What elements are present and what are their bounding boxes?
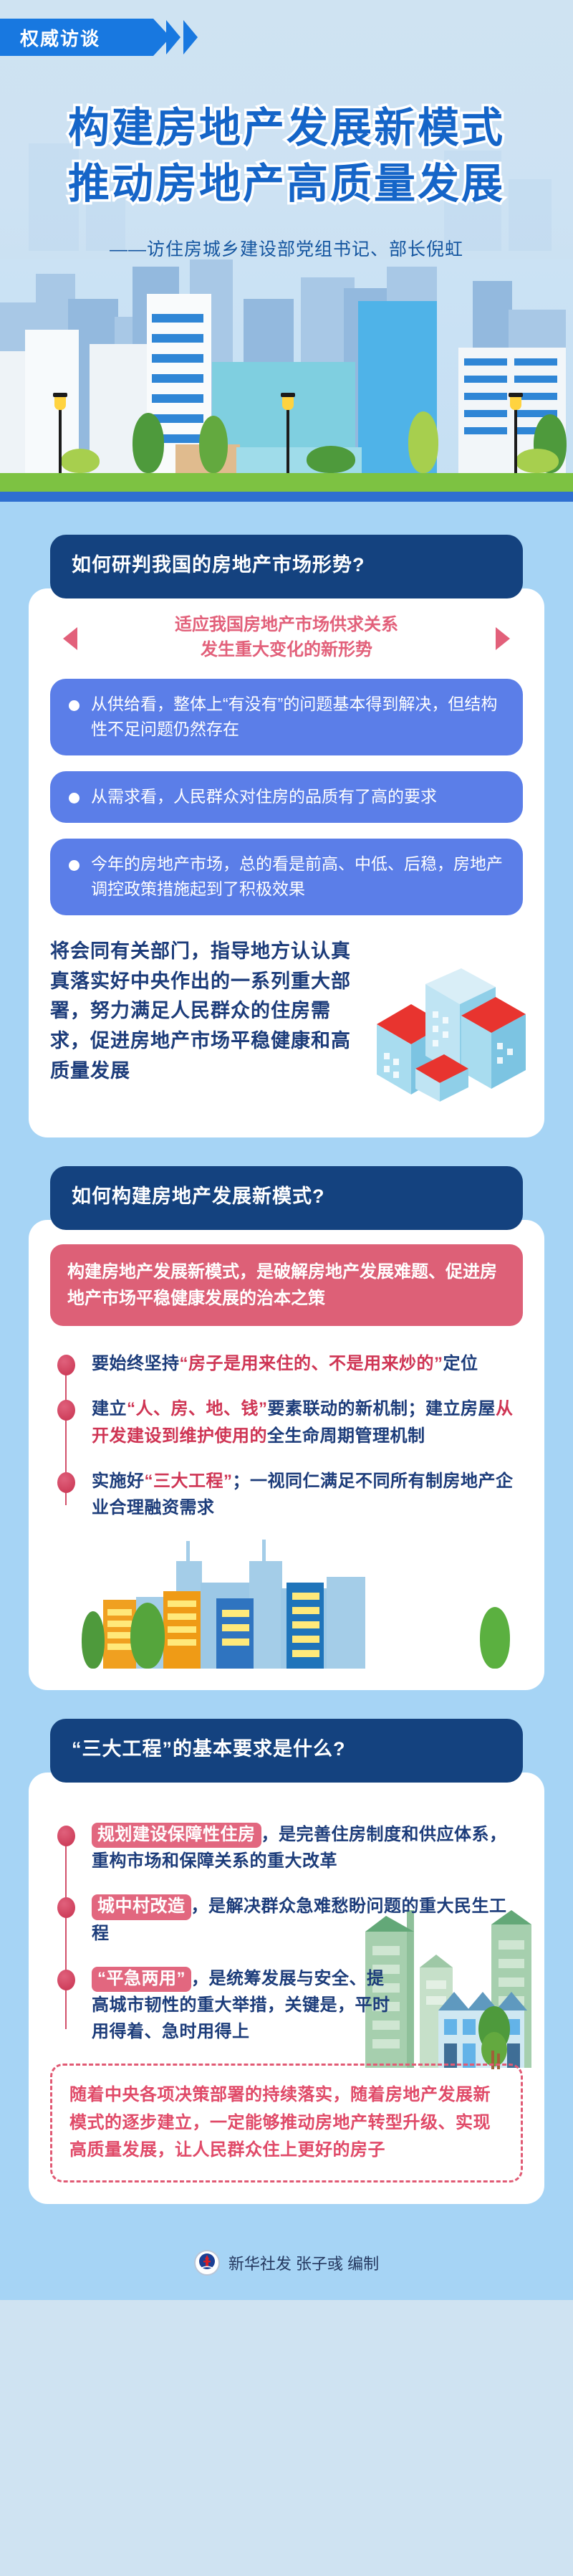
bullet-box: 从需求看，人民群众对住房的品质有了高的要求 bbox=[50, 771, 523, 823]
bullet-text: 今年的房地产市场，总的看是前高、中低、后稳，房地产调控政策措施起到了积极效果 bbox=[91, 851, 506, 902]
window-stripe bbox=[152, 394, 203, 403]
ribbon-label: 权威访谈 bbox=[20, 24, 100, 51]
window-stripe bbox=[292, 1607, 319, 1614]
keyword-chip: “平急两用” bbox=[92, 1967, 191, 1992]
section-new-model: 如何构建房地产发展新模式? 构建房地产发展新模式，是破解房地产发展难题、促进房地… bbox=[0, 1166, 573, 1719]
bush bbox=[307, 446, 355, 473]
timeline-item-text: 要始终坚持“房子是用来住的、不是用来炒的”定位 bbox=[92, 1350, 523, 1377]
window-stripe bbox=[168, 1613, 196, 1620]
bullet-dot-icon bbox=[69, 700, 80, 711]
banner-line-2: 发生重大变化的新形势 bbox=[90, 638, 483, 663]
timeline-highlight: “房子是用来住的、不是用来炒的” bbox=[180, 1354, 443, 1373]
timeline-item: 建立“人、房、地、钱”要素联动的新机制；建立房屋从开发建设到维护使用的全生命周期… bbox=[92, 1396, 523, 1449]
window-stripe bbox=[222, 1638, 249, 1646]
bullet-dot-icon bbox=[69, 793, 80, 803]
timeline-post-2: 全生命周期管理机制 bbox=[267, 1426, 425, 1446]
timeline-post: 定位 bbox=[443, 1354, 478, 1373]
timeline-item: 要始终坚持“房子是用来住的、不是用来炒的”定位 bbox=[92, 1350, 523, 1377]
section-three-projects: “三大工程”的基本要求是什么? 规划建设保障性住房，是完善住房制度和供应体系，重… bbox=[0, 1719, 573, 2225]
antenna bbox=[262, 1540, 266, 1669]
section-1-heading: 如何研判我国的房地产市场形势? bbox=[50, 535, 523, 598]
footer-credit-text: 新华社发 张子彧 编制 bbox=[228, 2251, 379, 2274]
timeline-dot-icon bbox=[57, 1400, 75, 1421]
timeline-highlight: “人、房、地、钱” bbox=[127, 1399, 268, 1418]
tree bbox=[133, 413, 164, 473]
timeline-dot-icon bbox=[57, 1472, 75, 1493]
window-stripe bbox=[514, 358, 557, 366]
tree bbox=[408, 411, 438, 473]
city-illustration bbox=[0, 259, 573, 502]
window-stripe bbox=[152, 334, 203, 343]
keyword-chip: 城中村改造 bbox=[92, 1894, 191, 1919]
section-1-card: 适应我国房地产市场供求关系 发生重大变化的新形势 从供给看，整体上“有没有”的问… bbox=[29, 588, 544, 1137]
timeline-pre: 建立 bbox=[92, 1399, 127, 1418]
window-stripe bbox=[464, 427, 507, 434]
section-3-heading: “三大工程”的基本要求是什么? bbox=[50, 1719, 523, 1783]
window-stripe bbox=[222, 1624, 249, 1631]
section-2-card: 构建房地产发展新模式，是破解房地产发展难题、促进房地产市场平稳健康发展的治本之策… bbox=[29, 1220, 544, 1690]
street-lamp bbox=[286, 401, 289, 473]
timeline-item: 实施好“三大工程”；一视同仁满足不同所有制房地产企业合理融资需求 bbox=[92, 1468, 523, 1521]
tree bbox=[82, 1611, 105, 1669]
window-stripe bbox=[292, 1650, 319, 1657]
section-market-situation: 如何研判我国的房地产市场形势? 适应我国房地产市场供求关系 发生重大变化的新形势… bbox=[0, 535, 573, 1166]
timeline-item-text: 城中村改造，是解决群众急难愁盼问题的重大民生工程 bbox=[92, 1893, 523, 1946]
timeline-item: 城中村改造，是解决群众急难愁盼问题的重大民生工程 bbox=[92, 1893, 523, 1946]
window-stripe bbox=[107, 1621, 132, 1627]
timeline-item: 规划建设保障性住房，是完善住房制度和供应体系，重构市场和保障关系的重大改革 bbox=[92, 1821, 523, 1874]
section-1-heading-text: 如何研判我国的房地产市场形势? bbox=[72, 549, 501, 577]
bullet-box: 今年的房地产市场，总的看是前高、中低、后稳，房地产调控政策措施起到了积极效果 bbox=[50, 839, 523, 915]
lamp-light-icon bbox=[54, 396, 66, 410]
timeline-item-text: 规划建设保障性住房，是完善住房制度和供应体系，重构市场和保障关系的重大改革 bbox=[92, 1821, 523, 1874]
grass-strip bbox=[0, 473, 573, 492]
window-stripe bbox=[107, 1609, 132, 1616]
lamp-cap bbox=[281, 393, 295, 397]
chevron-right-icon bbox=[183, 20, 198, 54]
lamp-cap bbox=[509, 393, 523, 397]
window-stripe bbox=[464, 393, 507, 400]
triangle-right-icon bbox=[496, 627, 510, 650]
xinhua-emblem bbox=[199, 2253, 215, 2270]
chevron-right-icon bbox=[166, 20, 180, 54]
window-stripe bbox=[152, 314, 203, 323]
section-2-highlight-box: 构建房地产发展新模式，是破解房地产发展难题、促进房地产市场平稳健康发展的治本之策 bbox=[50, 1244, 523, 1326]
section-3-timeline: 规划建设保障性住房，是完善住房制度和供应体系，重构市场和保障关系的重大改革 城中… bbox=[50, 1821, 523, 2045]
bush bbox=[516, 449, 559, 473]
timeline-item-text: “平急两用”，是统筹发展与安全、提高城市韧性的重大举措，关键是，平时用得着、急时… bbox=[92, 1965, 400, 2046]
section-1-paragraph: 将会同有关部门，指导地方认认真真落实好中央作出的一系列重大部署，努力满足人民群众… bbox=[50, 937, 351, 1087]
isometric-houses-illustration bbox=[370, 968, 527, 1112]
timeline-pre: 实施好 bbox=[92, 1471, 145, 1491]
hero-title-line-2: 推动房地产高质量发展 bbox=[0, 156, 573, 212]
timeline-item: “平急两用”，是统筹发展与安全、提高城市韧性的重大举措，关键是，平时用得着、急时… bbox=[92, 1965, 400, 2046]
xinhua-logo-icon bbox=[194, 2250, 220, 2276]
window-stripe bbox=[168, 1626, 196, 1633]
window-stripe bbox=[464, 410, 507, 417]
skyline-building bbox=[249, 1561, 282, 1669]
hero-title-block: 构建房地产发展新模式 推动房地产高质量发展 bbox=[0, 100, 573, 213]
street-lamp bbox=[514, 401, 517, 473]
timeline-item-text: 建立“人、房、地、钱”要素联动的新机制；建立房屋从开发建设到维护使用的全生命周期… bbox=[92, 1396, 523, 1449]
banner-line-1: 适应我国房地产市场供求关系 bbox=[90, 613, 483, 638]
section-2-timeline: 要始终坚持“房子是用来住的、不是用来炒的”定位 建立“人、房、地、钱”要素联动的… bbox=[50, 1350, 523, 1521]
section-2-heading: 如何构建房地产发展新模式? bbox=[50, 1166, 523, 1230]
timeline-connector bbox=[65, 1833, 67, 2029]
window-stripe bbox=[464, 376, 507, 383]
triangle-left-icon bbox=[63, 627, 77, 650]
street-lamp bbox=[59, 401, 62, 473]
lamp-light-icon bbox=[510, 396, 521, 410]
hero-banner: 权威访谈 构建房地产发展新模式 推动房地产高质量发展 ——访住房城乡建设部党组书… bbox=[0, 0, 573, 502]
window-stripe bbox=[107, 1644, 132, 1650]
window-stripe bbox=[292, 1593, 319, 1600]
blue-building bbox=[216, 1598, 254, 1669]
bullet-dot-icon bbox=[69, 860, 80, 871]
tree bbox=[199, 416, 228, 473]
timeline-pre: 要始终坚持 bbox=[92, 1354, 180, 1373]
footer-credit-bar: 新华社发 张子彧 编制 bbox=[0, 2226, 573, 2300]
road-strip bbox=[0, 492, 573, 502]
city-skyline-illustration bbox=[50, 1540, 523, 1669]
section-3-heading-text: “三大工程”的基本要求是什么? bbox=[72, 1733, 501, 1761]
timeline-dot-icon bbox=[57, 1897, 75, 1918]
window-stripe bbox=[464, 358, 507, 366]
window-stripe bbox=[152, 354, 203, 363]
window-stripe bbox=[292, 1621, 319, 1628]
section-3-card: 规划建设保障性住房，是完善住房制度和供应体系，重构市场和保障关系的重大改革 城中… bbox=[29, 1773, 544, 2203]
window-stripe bbox=[168, 1601, 196, 1607]
window-stripe bbox=[107, 1632, 132, 1638]
keyword-chip: 规划建设保障性住房 bbox=[92, 1823, 261, 1848]
ribbon-badge: 权威访谈 bbox=[0, 19, 153, 56]
timeline-dot-icon bbox=[57, 1826, 75, 1846]
window-stripe bbox=[168, 1639, 196, 1646]
bullet-box: 从供给看，整体上“有没有”的问题基本得到解决，但结构性不足问题仍然存在 bbox=[50, 679, 523, 755]
bullet-text: 从需求看，人民群众对住房的品质有了高的要求 bbox=[91, 784, 437, 810]
closing-statement-box: 随着中央各项决策部署的持续落实，随着房地产发展新模式的逐步建立，一定能够推动房地… bbox=[50, 2064, 523, 2182]
window-stripe bbox=[222, 1610, 249, 1617]
lamp-light-icon bbox=[282, 396, 294, 410]
skyline-building bbox=[327, 1577, 365, 1669]
timeline-dot-icon bbox=[57, 1355, 75, 1375]
section-2-heading-text: 如何构建房地产发展新模式? bbox=[72, 1180, 501, 1208]
hero-subtitle: ——访住房城乡建设部党组书记、部长倪虹 bbox=[0, 235, 573, 261]
tree bbox=[130, 1603, 165, 1669]
timeline-dot-icon bbox=[57, 1970, 75, 1990]
window-stripe bbox=[514, 376, 557, 383]
timeline-highlight: “三大工程” bbox=[145, 1471, 233, 1491]
bullet-text: 从供给看，整体上“有没有”的问题基本得到解决，但结构性不足问题仍然存在 bbox=[91, 692, 506, 743]
window-stripe bbox=[152, 374, 203, 383]
section-1-banner: 适应我国房地产市场供求关系 发生重大变化的新形势 bbox=[50, 613, 523, 663]
bush bbox=[61, 449, 100, 473]
tree bbox=[480, 1607, 510, 1669]
timeline-item-text: 实施好“三大工程”；一视同仁满足不同所有制房地产企业合理融资需求 bbox=[92, 1468, 523, 1521]
lamp-cap bbox=[53, 393, 67, 397]
window-stripe bbox=[292, 1636, 319, 1643]
section-gap bbox=[0, 502, 573, 535]
timeline-post: 要素联动的新机制；建立房屋 bbox=[268, 1399, 496, 1418]
hero-title-line-1: 构建房地产发展新模式 bbox=[0, 100, 573, 156]
